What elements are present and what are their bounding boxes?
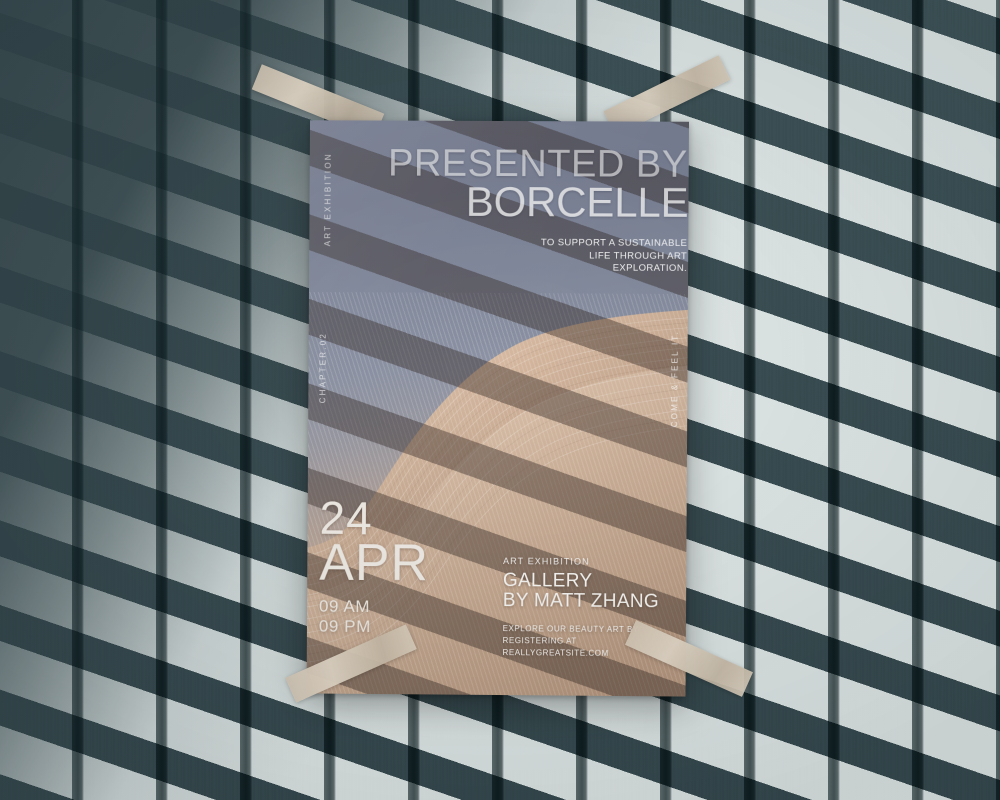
poster-time-close: 09 PM — [319, 617, 429, 639]
poster-time-open: 09 AM — [319, 596, 429, 618]
poster-headline-line2: BORCELLE — [309, 181, 688, 222]
poster-vertical-label-come-and-feel: COME & FEEL IT. — [670, 330, 680, 427]
poster-tagline-line1: TO SUPPORT A SUSTAINABLE — [487, 237, 687, 251]
poster-vertical-label-chapter: CHAPTER.02 — [318, 332, 327, 403]
poster-date-block: 24 APR 09 AM 09 PM — [319, 499, 430, 638]
poster-date-month: APR — [319, 541, 429, 588]
poster-info-gallery-line2: BY MATT ZHANG — [503, 591, 689, 613]
poster-tagline-line2: LIFE THROUGH ART — [487, 249, 687, 263]
poster-mockup-scene: ART EXHIBITION CHAPTER.02 COME & FEEL IT… — [0, 0, 1000, 800]
poster-headline: PRESENTED BY BORCELLE — [309, 146, 688, 222]
poster-info-eyebrow: ART EXHIBITION — [503, 556, 689, 567]
poster-tagline-line3: EXPLORATION. — [487, 262, 687, 276]
poster-content: ART EXHIBITION CHAPTER.02 COME & FEEL IT… — [307, 120, 689, 696]
poster[interactable]: ART EXHIBITION CHAPTER.02 COME & FEEL IT… — [307, 120, 689, 696]
poster-tagline: TO SUPPORT A SUSTAINABLE LIFE THROUGH AR… — [487, 237, 687, 276]
